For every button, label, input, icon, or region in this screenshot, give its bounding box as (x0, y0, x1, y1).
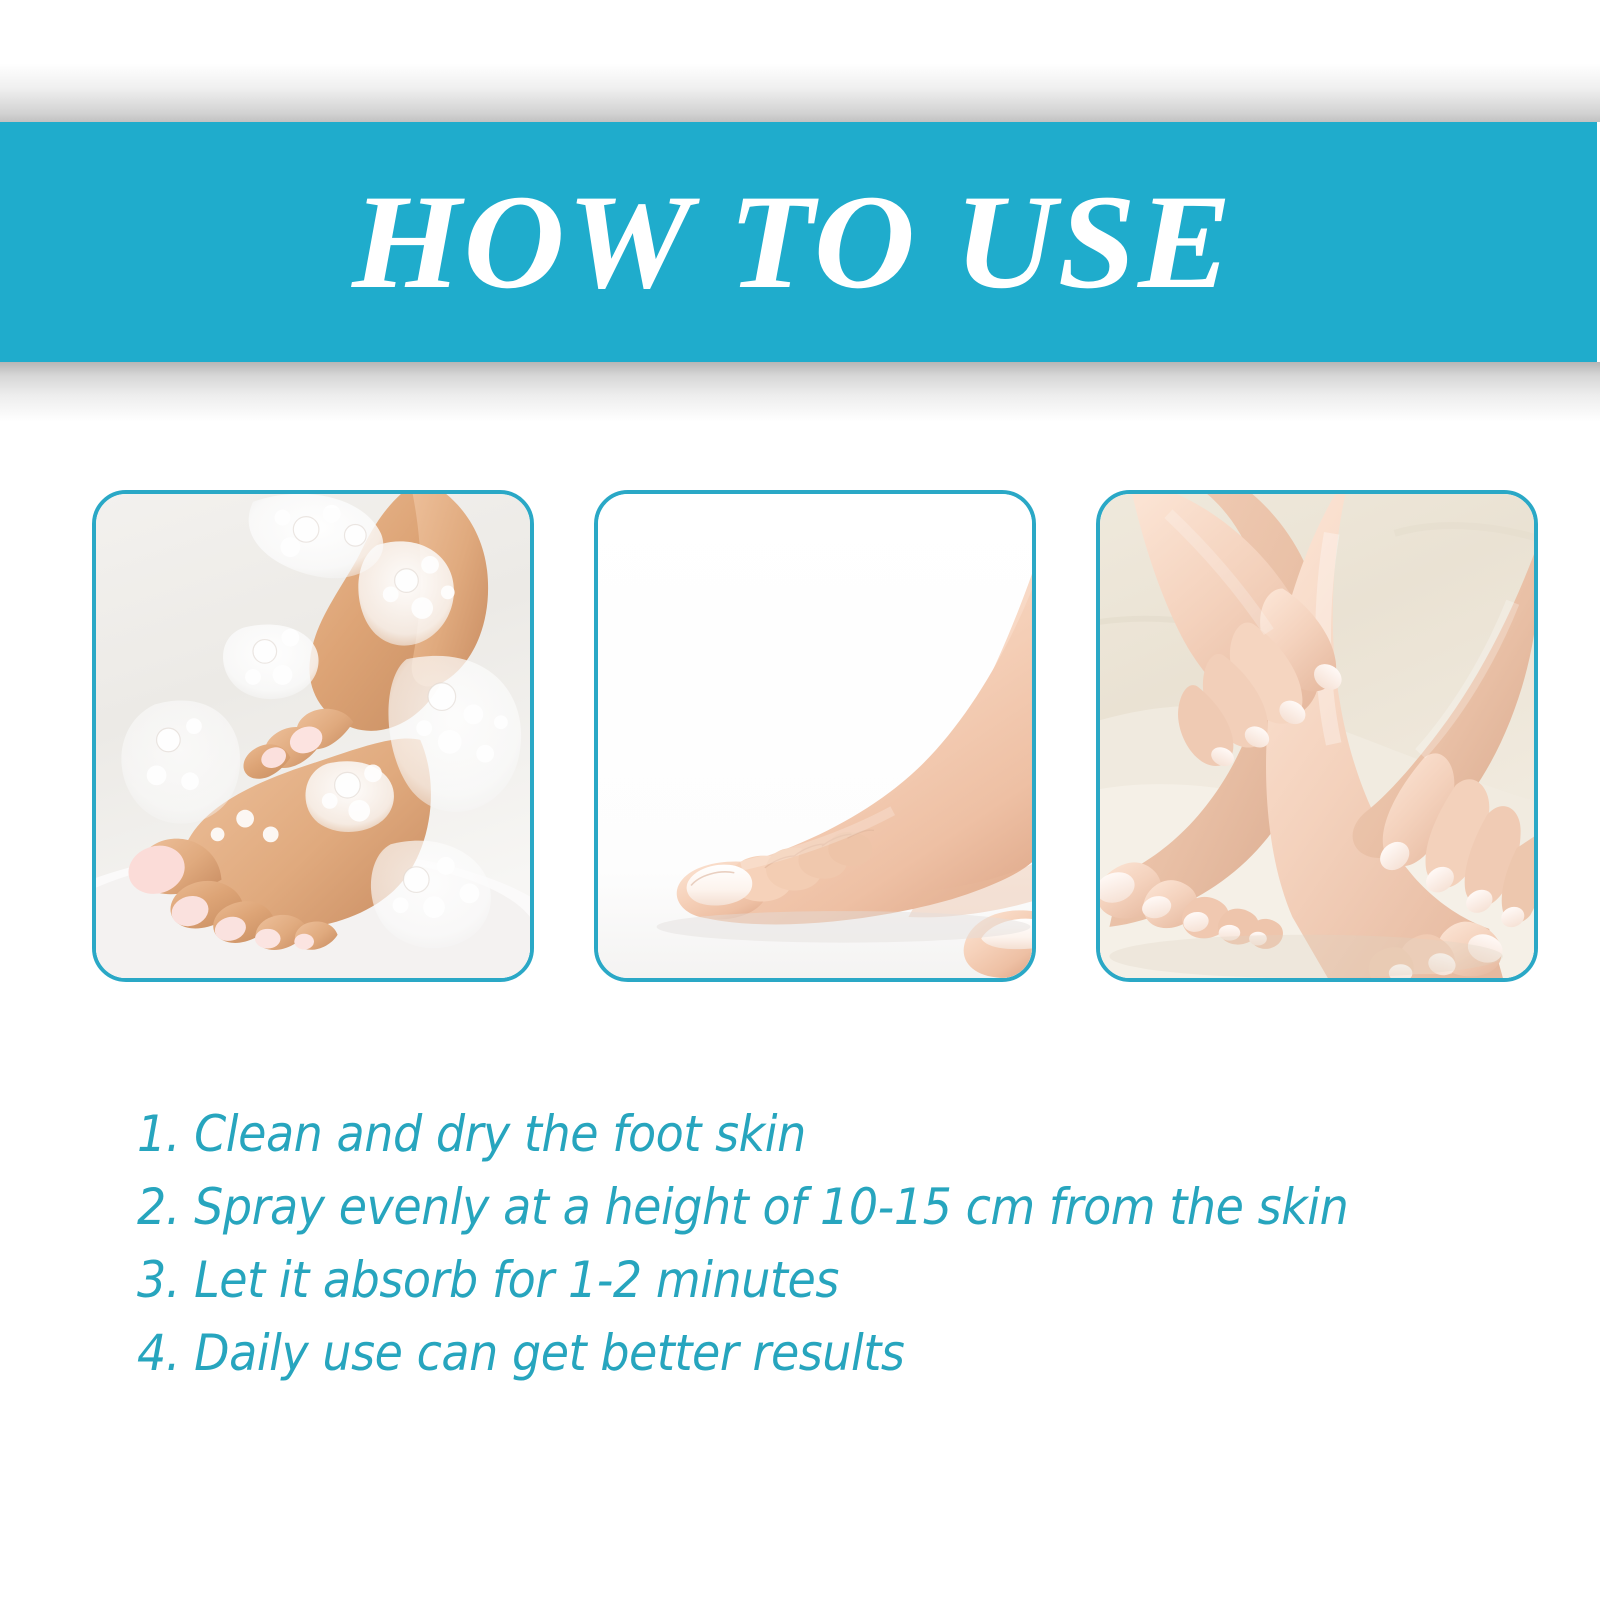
step-1-image-card (92, 490, 534, 982)
instruction-step-1: 1. Clean and dry the foot skin (137, 1098, 1407, 1171)
instruction-step-4: 4. Daily use can get better results (137, 1317, 1407, 1390)
banner-bottom-shadow (0, 362, 1600, 422)
foot-washing-suds-image (96, 494, 530, 978)
instructions-list: 1. Clean and dry the foot skin 2. Spray … (137, 1098, 1517, 1390)
header-banner-area: HOW TO USE (0, 0, 1600, 420)
hands-massaging-feet-image (1100, 494, 1534, 978)
page-title: HOW TO USE (352, 175, 1234, 310)
instruction-step-3: 3. Let it absorb for 1-2 minutes (137, 1244, 1407, 1317)
header-banner: HOW TO USE (0, 122, 1597, 362)
step-3-image-card (1096, 490, 1538, 982)
clean-bare-foot-image (598, 494, 1032, 978)
banner-top-shadow (0, 0, 1600, 122)
step-2-image-card (594, 490, 1036, 982)
instruction-step-2: 2. Spray evenly at a height of 10-15 cm … (137, 1171, 1407, 1244)
instruction-image-row (92, 490, 1538, 982)
